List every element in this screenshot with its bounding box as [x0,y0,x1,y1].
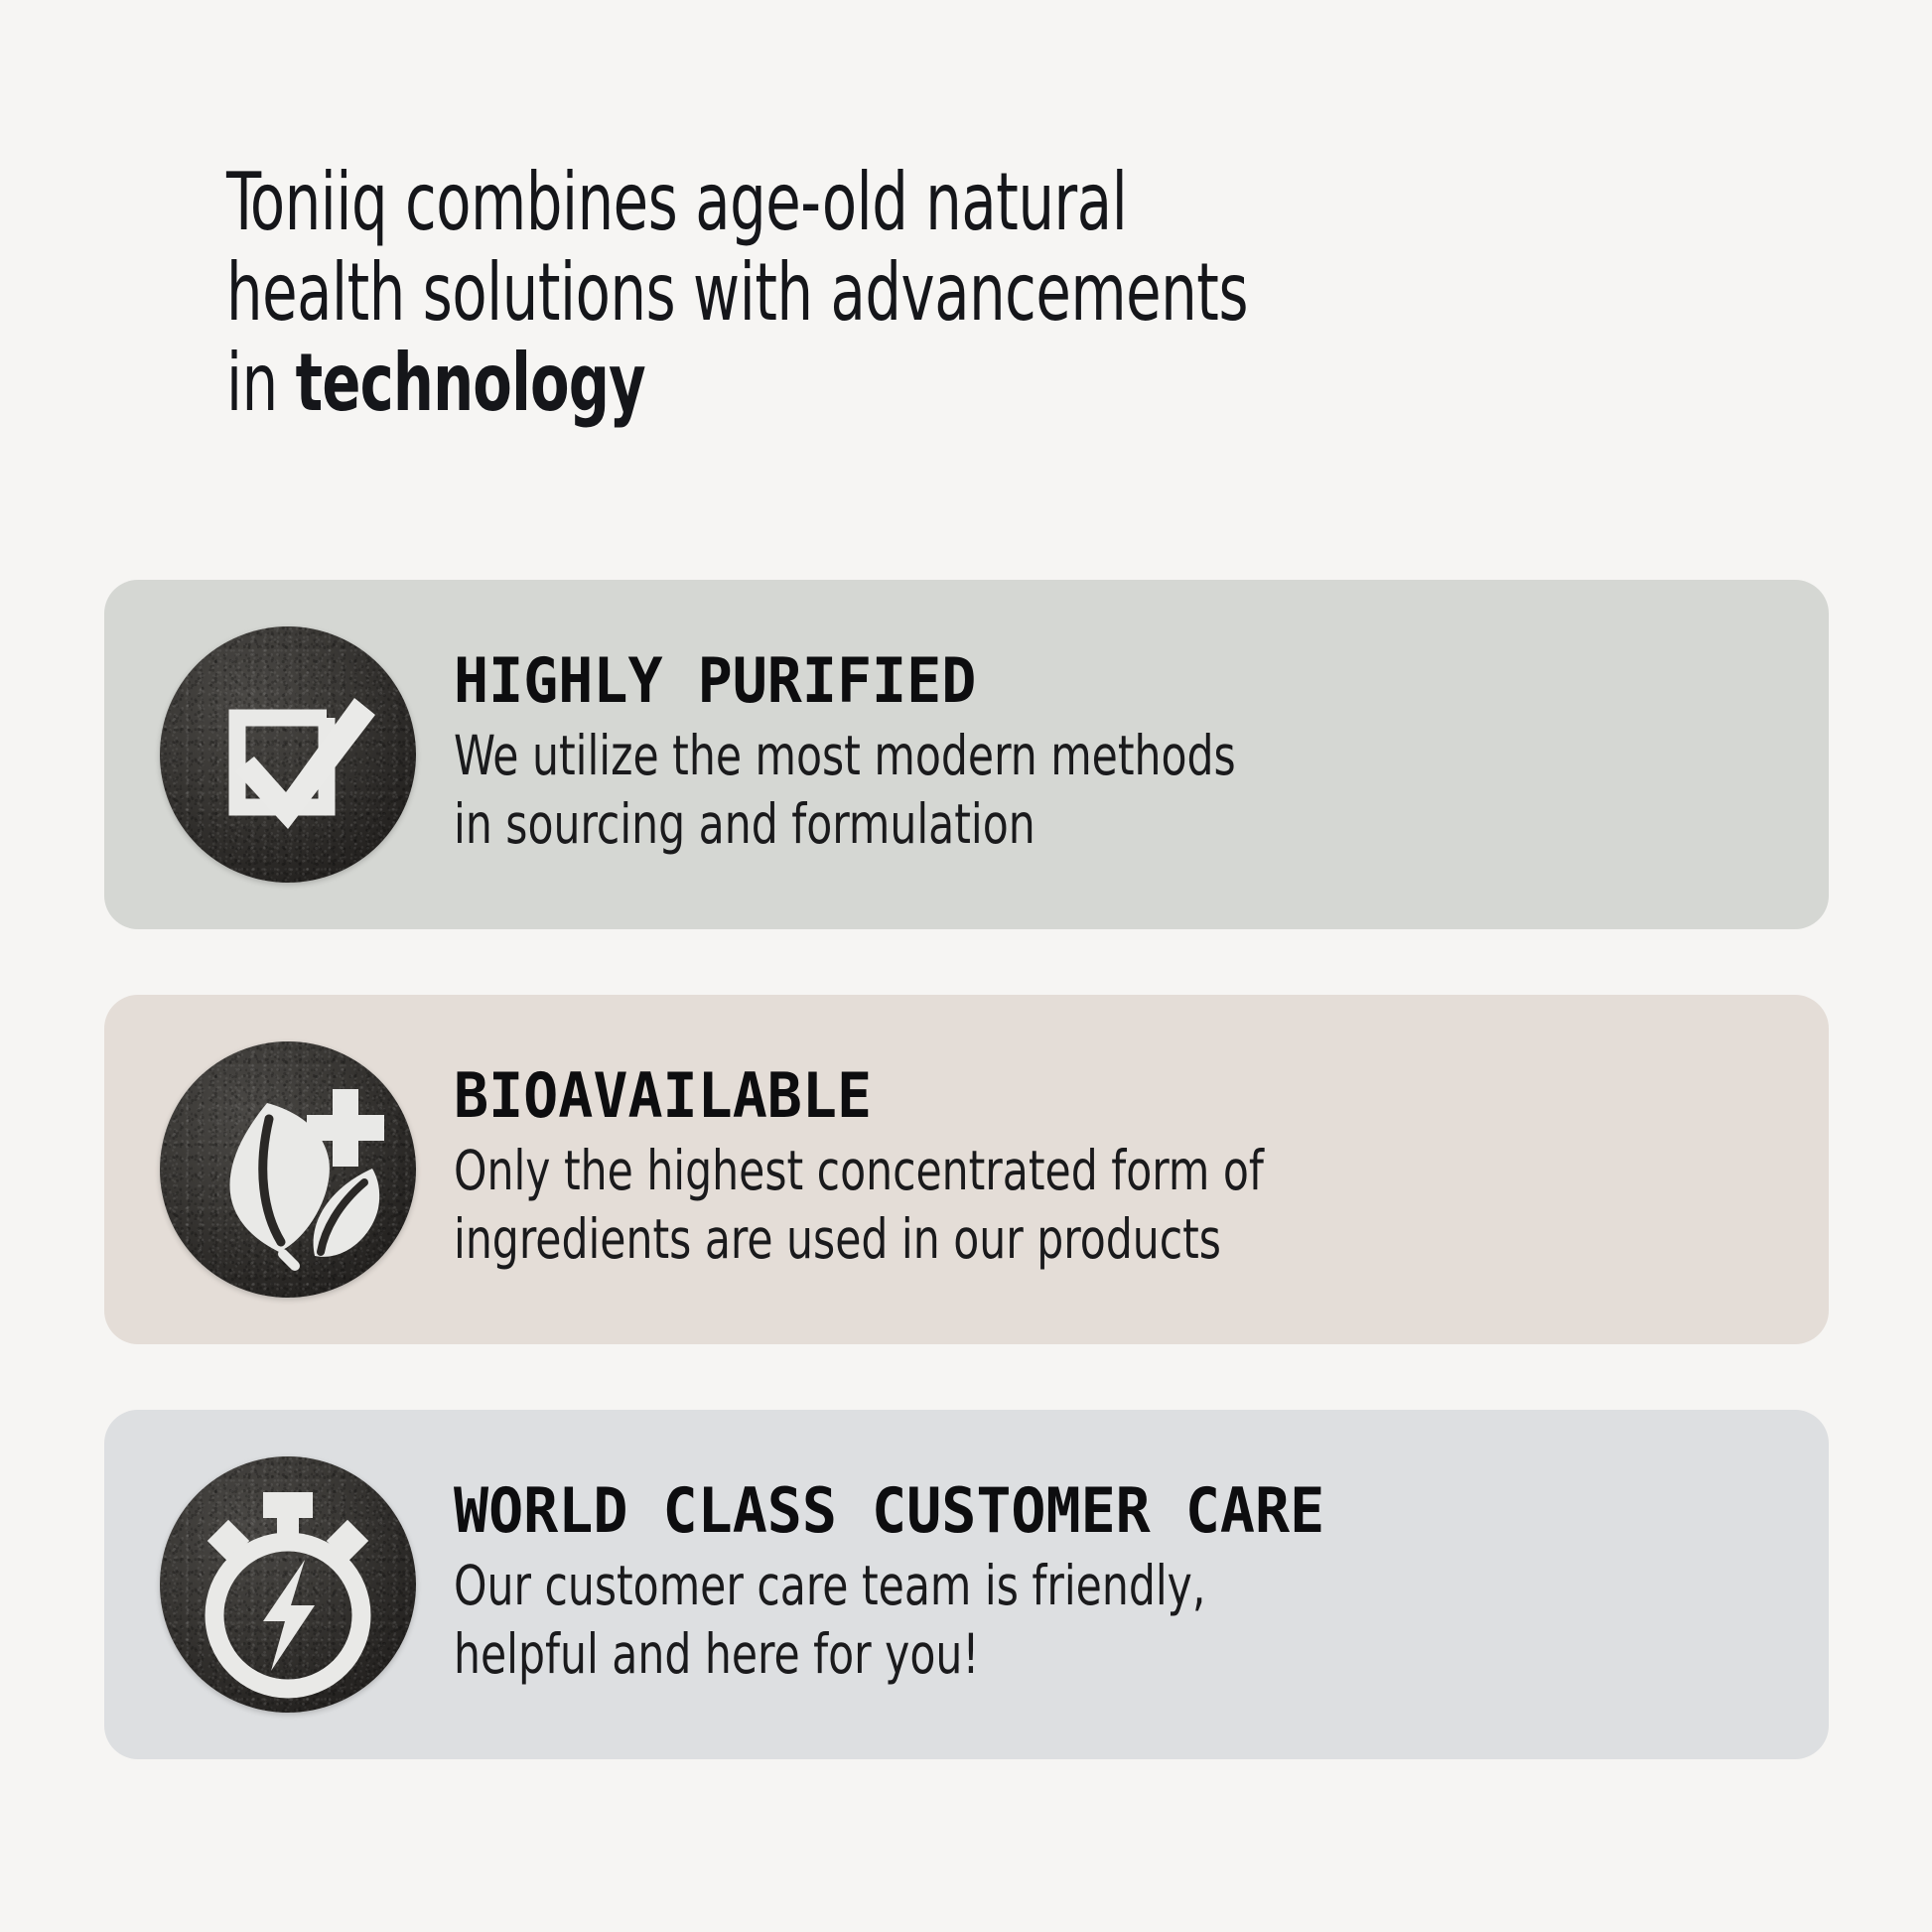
feature-card-body-line-1: We utilize the most modern methods [454,722,1602,790]
page-headline: Toniiq combines age-old natural health s… [226,157,1338,429]
stopwatch-bolt-icon [160,1456,416,1713]
feature-card-world-class-customer-care: WORLD CLASS CUSTOMER CARE Our customer c… [104,1410,1829,1759]
leaf-plus-icon [160,1041,416,1298]
headline-emphasis-technology: technology [296,337,645,429]
headline-line-3: in technology [226,338,1338,428]
feature-card-body-line-1: Only the highest concentrated form of [454,1137,1602,1205]
feature-card-body-line-1: Our customer care team is friendly, [454,1552,1602,1620]
feature-card-body: We utilize the most modern methods in so… [454,722,1602,860]
feature-card-text: HIGHLY PURIFIED We utilize the most mode… [454,650,1829,860]
feature-card-title: HIGHLY PURIFIED [454,650,1709,712]
feature-card-body-line-2: ingredients are used in our products [454,1205,1602,1274]
feature-card-body-line-2: helpful and here for you! [454,1620,1602,1689]
feature-card-body: Only the highest concentrated form of in… [454,1137,1602,1275]
feature-card-title: BIOAVAILABLE [454,1065,1709,1127]
feature-card-text: BIOAVAILABLE Only the highest concentrat… [454,1065,1829,1275]
feature-card-body: Our customer care team is friendly, help… [454,1552,1602,1690]
feature-card-highly-purified: HIGHLY PURIFIED We utilize the most mode… [104,580,1829,929]
feature-card-body-line-2: in sourcing and formulation [454,790,1602,859]
checkbox-check-icon [160,626,416,883]
headline-line-1: Toniiq combines age-old natural [226,157,1338,247]
feature-card-bioavailable: BIOAVAILABLE Only the highest concentrat… [104,995,1829,1344]
feature-card-title: WORLD CLASS CUSTOMER CARE [454,1480,1709,1542]
headline-line-3-prefix: in [226,337,296,429]
headline-line-2: health solutions with advancements [226,247,1338,338]
promo-graphic: Toniiq combines age-old natural health s… [0,0,1932,1932]
feature-card-text: WORLD CLASS CUSTOMER CARE Our customer c… [454,1480,1829,1690]
